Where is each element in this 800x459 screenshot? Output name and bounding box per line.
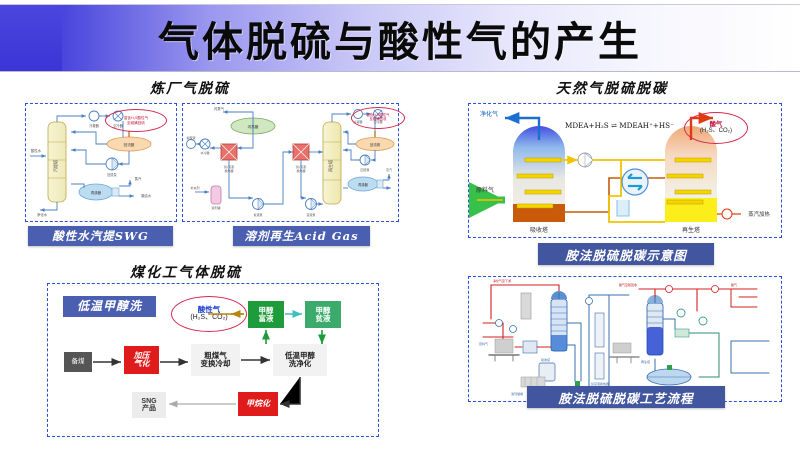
amine-pid-svg: 净化气至下游 酸气至硫回收 酸气 吸收塔 再生塔 贫富液换热器 溶剂储罐 重沸器… <box>469 277 779 399</box>
svg-text:再生塔: 再生塔 <box>641 359 650 364</box>
coal-lean-methanol-box: 甲醇 贫液 <box>305 301 341 328</box>
panel-amine-schematic: 吸收塔 净化气 原料气 再生塔 <box>468 103 782 238</box>
svg-text:溶剂储罐: 溶剂储罐 <box>511 391 523 396</box>
svg-text:再沸器: 再沸器 <box>91 190 102 195</box>
svg-text:回流泵: 回流泵 <box>107 172 117 177</box>
svg-text:再生塔: 再生塔 <box>682 226 700 234</box>
caption-acid-gas: 溶剂再生Acid Gas <box>233 226 370 246</box>
svg-text:汽提塔: 汽提塔 <box>52 160 58 172</box>
amine-equation: MDEA+H₂S ⇌ MDEAH⁺+HS⁻ <box>565 122 674 130</box>
svg-text:溶剂罐: 溶剂罐 <box>211 205 220 210</box>
coal-feed-box: 备煤 <box>64 352 92 372</box>
title-banner: 气体脱硫与酸性气的产生 <box>0 4 800 72</box>
svg-text:蒸汽: 蒸汽 <box>386 167 392 172</box>
svg-text:水冷器: 水冷器 <box>200 150 209 155</box>
svg-text:酸性水: 酸性水 <box>31 148 42 153</box>
svg-text:再沸器: 再沸器 <box>358 182 368 187</box>
coal-acid-gas-line2: (H₂S、CO₂) <box>190 314 227 322</box>
panel-coal-chemical: 低温甲醇洗 酸性气 (H₂S、CO₂) 甲醇 富液 甲醇 贫液 备煤 加压 气化… <box>47 283 379 437</box>
section-heading-coal: 煤化工气体脱硫 <box>130 262 242 282</box>
panel-amine-process: 净化气至下游 酸气至硫回收 酸气 吸收塔 再生塔 贫富液换热器 溶剂储罐 重沸器… <box>468 276 782 402</box>
amine-acid-gas-callout: 酸气 (H₂S、CO₂) <box>684 112 748 144</box>
coal-title-box: 低温甲醇洗 <box>63 296 156 317</box>
svg-text:原料气: 原料气 <box>476 186 494 194</box>
svg-text:原料气: 原料气 <box>479 341 488 346</box>
svg-text:吸收塔: 吸收塔 <box>530 226 548 234</box>
coal-rich-methanol-box: 甲醇 富液 <box>248 301 284 328</box>
slide-root: 气体脱硫与酸性气的产生 炼厂气脱硫 天然气脱硫脱碳 煤化工气体脱硫 <box>0 0 800 459</box>
coal-sng-box: SNG 产品 <box>132 392 166 418</box>
page-title: 气体脱硫与酸性气的产生 <box>158 8 642 68</box>
svg-text:贫液泵: 贫液泵 <box>253 212 262 217</box>
svg-text:回流泵: 回流泵 <box>360 167 369 172</box>
caption-amine-process: 胺法脱硫脱碳工艺流程 <box>527 386 725 408</box>
svg-text:冷凝器: 冷凝器 <box>89 123 99 128</box>
svg-text:富液泵: 富液泵 <box>306 212 315 217</box>
svg-text:酸气至硫回收: 酸气至硫回收 <box>619 282 637 287</box>
panel-acid-water-stripper: 汽提塔 冷凝器 空冷器 回流罐 回流泵 <box>25 103 177 222</box>
caption-swg: 酸性水汽提SWG <box>28 226 173 246</box>
svg-text:凝结水: 凝结水 <box>141 193 152 198</box>
coal-methanol-wash-box: 低温甲醇 洗净化 <box>273 344 327 376</box>
coal-acid-gas-line1: 酸性气 <box>198 306 221 315</box>
acid-gas-callout-stripper: 富含H₂S酸性气 至硫磺回收 <box>105 109 167 132</box>
svg-text:吸收塔: 吸收塔 <box>541 357 550 362</box>
panel-solvent-regeneration: 闪蒸罐 闪蒸气 贫/富液 换热器 贫/富液 换热器 水冷器 贫胺液 <box>182 103 399 222</box>
svg-text:回流罐: 回流罐 <box>370 142 381 147</box>
title-accent-tab <box>0 5 62 71</box>
svg-text:净化水: 净化水 <box>37 212 48 217</box>
svg-text:回流罐: 回流罐 <box>124 142 135 147</box>
section-heading-natural-gas: 天然气脱硫脱碳 <box>556 78 668 98</box>
amine-acid-gas-line1: 酸气 <box>710 121 723 128</box>
section-heading-refinery: 炼厂气脱硫 <box>150 78 230 98</box>
coal-acid-gas-callout: 酸性气 (H₂S、CO₂) <box>171 296 247 332</box>
caption-amine-schematic: 胺法脱硫脱碳示意图 <box>538 243 714 265</box>
svg-text:蒸汽加热: 蒸汽加热 <box>748 210 770 218</box>
acid-gas-callout-solvent: 富含H₂S酸性气 至硫磺回收 <box>351 107 405 129</box>
coal-gasification-box: 加压 气化 <box>124 346 159 374</box>
svg-text:蒸汽: 蒸汽 <box>135 176 142 181</box>
svg-text:净化气: 净化气 <box>480 110 498 118</box>
svg-text:补充剂: 补充剂 <box>190 185 199 190</box>
svg-text:闪蒸气: 闪蒸气 <box>214 106 225 111</box>
svg-text:再生塔: 再生塔 <box>327 160 333 172</box>
coal-methanation-box: 甲烷化 <box>238 392 278 416</box>
amine-acid-gas-line2: (H₂S、CO₂) <box>700 128 732 135</box>
svg-text:酸气: 酸气 <box>731 282 737 287</box>
coal-shift-cool-box: 粗煤气 变换冷却 <box>191 344 240 376</box>
svg-text:贫胺液: 贫胺液 <box>186 135 195 140</box>
svg-text:净化气至下游: 净化气至下游 <box>493 278 511 283</box>
